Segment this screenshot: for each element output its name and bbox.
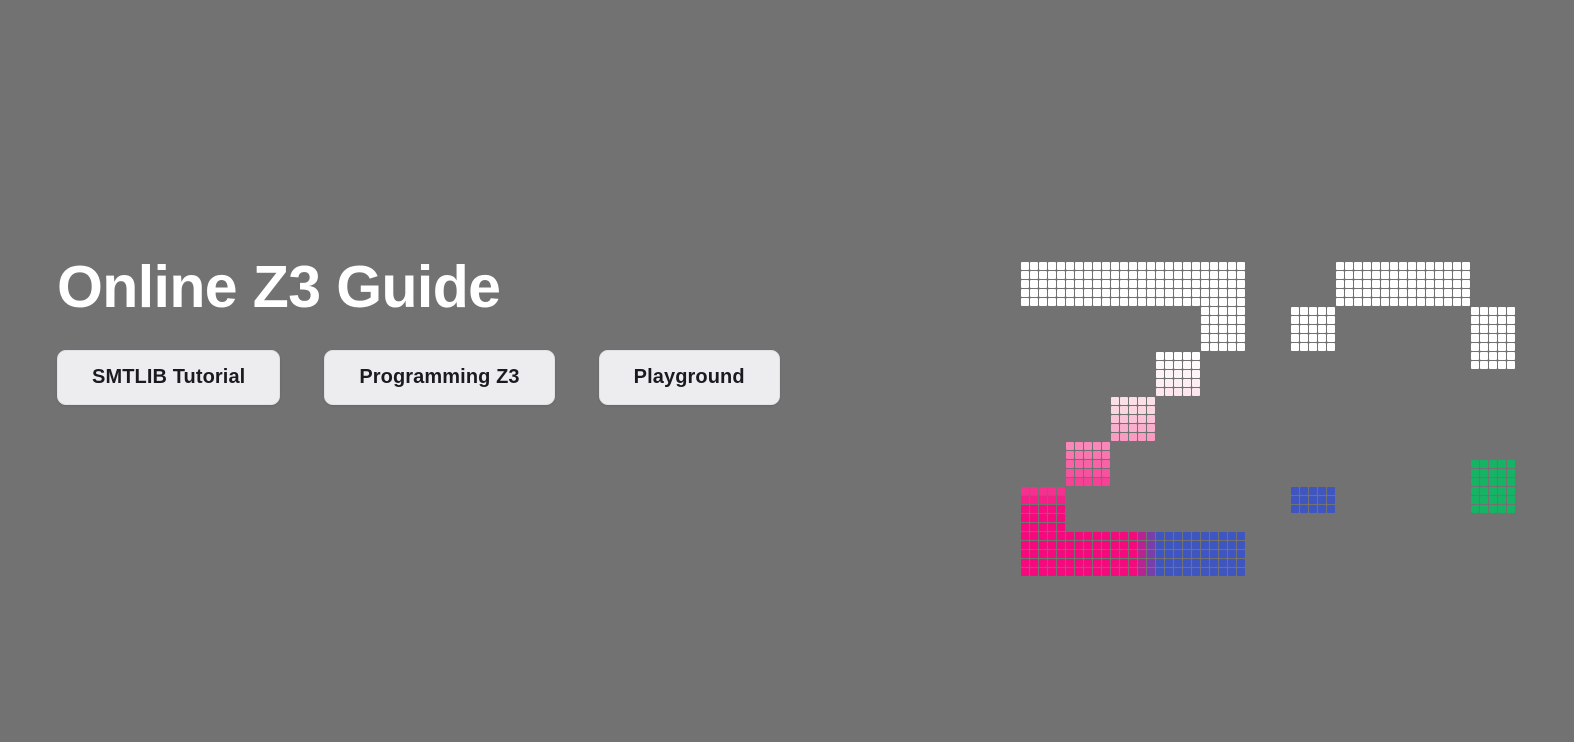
logo-pixel — [1237, 343, 1245, 351]
logo-pixel — [1219, 343, 1227, 351]
logo-pixel — [1354, 415, 1362, 423]
logo-pixel — [1489, 460, 1497, 468]
logo-pixel — [1399, 271, 1407, 279]
logo-pixel — [1453, 415, 1461, 423]
logo-pixel — [1498, 352, 1506, 360]
logo-pixel — [1498, 460, 1506, 468]
logo-pixel — [1201, 289, 1209, 297]
logo-pixel — [1462, 406, 1470, 414]
logo-pixel — [1507, 496, 1515, 504]
logo-pixel — [1192, 280, 1200, 288]
logo-pixel — [1318, 316, 1326, 324]
logo-pixel — [1075, 271, 1083, 279]
logo-pixel — [1030, 523, 1038, 531]
logo-pixel — [1408, 532, 1416, 540]
logo-pixel — [1480, 442, 1488, 450]
logo-pixel — [1129, 271, 1137, 279]
logo-pixel — [1336, 559, 1344, 567]
logo-pixel — [1057, 289, 1065, 297]
logo-pixel — [1129, 289, 1137, 297]
logo-pixel — [1309, 316, 1317, 324]
logo-pixel — [1390, 271, 1398, 279]
logo-pixel — [1111, 406, 1119, 414]
logo-pixel — [1138, 397, 1146, 405]
logo-pixel — [1327, 316, 1335, 324]
logo-pixel — [1435, 289, 1443, 297]
logo-pixel — [1471, 496, 1479, 504]
logo-pixel — [1390, 568, 1398, 576]
logo-pixel — [1129, 262, 1137, 270]
logo-pixel — [1102, 559, 1110, 567]
logo-pixel — [1507, 442, 1515, 450]
logo-pixel — [1165, 352, 1173, 360]
logo-pixel — [1489, 352, 1497, 360]
logo-pixel — [1318, 505, 1326, 513]
logo-pixel — [1138, 532, 1146, 540]
logo-pixel — [1507, 388, 1515, 396]
logo-pixel — [1183, 298, 1191, 306]
logo-pixel — [1174, 568, 1182, 576]
logo-pixel — [1111, 568, 1119, 576]
logo-pixel — [1480, 307, 1488, 315]
logo-pixel — [1300, 505, 1308, 513]
logo-pixel — [1102, 532, 1110, 540]
logo-pixel — [1084, 262, 1092, 270]
logo-pixel — [1039, 514, 1047, 522]
logo-pixel — [1399, 568, 1407, 576]
logo-pixel — [1183, 559, 1191, 567]
logo-pixel — [1192, 379, 1200, 387]
logo-pixel — [1318, 514, 1326, 522]
logo-pixel — [1147, 568, 1155, 576]
logo-pixel — [1390, 289, 1398, 297]
logo-pixel — [1372, 559, 1380, 567]
logo-pixel — [1147, 415, 1155, 423]
logo-pixel — [1507, 334, 1515, 342]
logo-pixel — [1183, 370, 1191, 378]
logo-pixel — [1471, 469, 1479, 477]
logo-pixel — [1165, 541, 1173, 549]
logo-pixel — [1318, 334, 1326, 342]
logo-pixel — [1471, 361, 1479, 369]
logo-pixel — [1228, 289, 1236, 297]
logo-pixel — [1102, 460, 1110, 468]
logo-pixel — [1084, 289, 1092, 297]
logo-pixel — [1120, 532, 1128, 540]
logo-pixel — [1066, 541, 1074, 549]
logo-pixel — [1327, 496, 1335, 504]
logo-pixel — [1156, 280, 1164, 288]
logo-pixel — [1201, 550, 1209, 558]
logo-pixel — [1192, 262, 1200, 270]
logo-pixel — [1219, 307, 1227, 315]
logo-pixel — [1345, 568, 1353, 576]
logo-pixel — [1372, 406, 1380, 414]
logo-pixel — [1381, 289, 1389, 297]
logo-pixel — [1462, 271, 1470, 279]
logo-pixel — [1039, 505, 1047, 513]
logo-pixel — [1183, 568, 1191, 576]
logo-pixel — [1147, 406, 1155, 414]
logo-pixel — [1390, 262, 1398, 270]
logo-pixel — [1471, 316, 1479, 324]
logo-pixel — [1192, 568, 1200, 576]
logo-pixel — [1021, 289, 1029, 297]
logo-pixel — [1399, 415, 1407, 423]
logo-pixel — [1399, 541, 1407, 549]
logo-pixel — [1381, 298, 1389, 306]
logo-pixel — [1102, 280, 1110, 288]
logo-pixel — [1021, 541, 1029, 549]
logo-pixel — [1309, 307, 1317, 315]
logo-pixel — [1498, 496, 1506, 504]
logo-pixel — [1093, 568, 1101, 576]
logo-pixel — [1174, 262, 1182, 270]
logo-pixel — [1381, 424, 1389, 432]
logo-pixel — [1066, 478, 1074, 486]
logo-pixel — [1075, 262, 1083, 270]
logo-pixel — [1120, 280, 1128, 288]
logo-pixel — [1102, 271, 1110, 279]
z3-pixel-logo — [1021, 262, 1521, 592]
logo-pixel — [1039, 271, 1047, 279]
logo-pixel — [1237, 532, 1245, 540]
logo-pixel — [1147, 532, 1155, 540]
logo-pixel — [1345, 271, 1353, 279]
logo-pixel — [1354, 280, 1362, 288]
logo-pixel — [1237, 550, 1245, 558]
logo-pixel — [1408, 541, 1416, 549]
logo-pixel — [1363, 550, 1371, 558]
logo-pixel — [1498, 307, 1506, 315]
logo-pixel — [1489, 388, 1497, 396]
logo-pixel — [1489, 325, 1497, 333]
logo-pixel — [1120, 406, 1128, 414]
logo-pixel — [1030, 271, 1038, 279]
logo-pixel — [1489, 343, 1497, 351]
logo-pixel — [1219, 262, 1227, 270]
logo-pixel — [1219, 334, 1227, 342]
logo-pixel — [1462, 559, 1470, 567]
logo-pixel — [1048, 541, 1056, 549]
logo-pixel — [1453, 559, 1461, 567]
logo-pixel — [1075, 559, 1083, 567]
logo-pixel — [1471, 379, 1479, 387]
logo-pixel — [1318, 523, 1326, 531]
logo-pixel — [1435, 262, 1443, 270]
logo-pixel — [1183, 550, 1191, 558]
logo-pixel — [1336, 289, 1344, 297]
logo-pixel — [1354, 424, 1362, 432]
logo-pixel — [1435, 550, 1443, 558]
logo-pixel — [1210, 559, 1218, 567]
logo-pixel — [1480, 343, 1488, 351]
logo-pixel — [1507, 451, 1515, 459]
logo-pixel — [1354, 289, 1362, 297]
logo-pixel — [1489, 505, 1497, 513]
logo-pixel — [1336, 397, 1344, 405]
logo-pixel — [1507, 325, 1515, 333]
logo-pixel — [1408, 415, 1416, 423]
logo-pixel — [1372, 280, 1380, 288]
logo-pixel — [1156, 532, 1164, 540]
logo-pixel — [1030, 496, 1038, 504]
logo-pixel — [1435, 424, 1443, 432]
logo-pixel — [1498, 334, 1506, 342]
logo-pixel — [1498, 388, 1506, 396]
logo-pixel — [1462, 568, 1470, 576]
logo-pixel — [1408, 406, 1416, 414]
logo-pixel — [1219, 550, 1227, 558]
logo-pixel — [1102, 451, 1110, 459]
logo-pixel — [1507, 478, 1515, 486]
logo-pixel — [1327, 514, 1335, 522]
logo-pixel — [1435, 415, 1443, 423]
logo-pixel — [1075, 280, 1083, 288]
logo-pixel — [1480, 514, 1488, 522]
logo-pixel — [1408, 550, 1416, 558]
logo-pixel — [1183, 352, 1191, 360]
page-title: Online Z3 Guide — [57, 258, 957, 317]
logo-pixel — [1210, 262, 1218, 270]
logo-pixel — [1444, 433, 1452, 441]
logo-pixel — [1201, 316, 1209, 324]
logo-pixel — [1210, 532, 1218, 540]
logo-pixel — [1480, 388, 1488, 396]
logo-pixel — [1327, 505, 1335, 513]
logo-pixel — [1444, 406, 1452, 414]
logo-pixel — [1327, 325, 1335, 333]
logo-pixel — [1336, 280, 1344, 288]
logo-pixel — [1327, 307, 1335, 315]
logo-pixel — [1138, 433, 1146, 441]
logo-pixel — [1462, 424, 1470, 432]
logo-pixel — [1174, 289, 1182, 297]
logo-pixel — [1030, 298, 1038, 306]
logo-pixel — [1111, 298, 1119, 306]
logo-pixel — [1480, 523, 1488, 531]
logo-pixel — [1120, 559, 1128, 567]
logo-pixel — [1165, 568, 1173, 576]
logo-pixel — [1021, 550, 1029, 558]
logo-pixel — [1381, 397, 1389, 405]
logo-pixel — [1480, 460, 1488, 468]
logo-pixel — [1075, 550, 1083, 558]
logo-pixel — [1237, 541, 1245, 549]
logo-pixel — [1129, 397, 1137, 405]
logo-pixel — [1498, 343, 1506, 351]
logo-pixel — [1030, 568, 1038, 576]
logo-pixel — [1291, 487, 1299, 495]
logo-pixel — [1399, 550, 1407, 558]
logo-pixel — [1201, 568, 1209, 576]
logo-pixel — [1300, 487, 1308, 495]
logo-pixel — [1165, 370, 1173, 378]
logo-pixel — [1111, 424, 1119, 432]
logo-pixel — [1183, 532, 1191, 540]
logo-pixel — [1057, 559, 1065, 567]
logo-pixel — [1363, 406, 1371, 414]
logo-pixel — [1138, 424, 1146, 432]
logo-pixel — [1066, 550, 1074, 558]
logo-pixel — [1462, 289, 1470, 297]
logo-pixel — [1147, 397, 1155, 405]
logo-pixel — [1489, 514, 1497, 522]
logo-pixel — [1084, 550, 1092, 558]
logo-pixel — [1093, 262, 1101, 270]
logo-pixel — [1471, 307, 1479, 315]
logo-pixel — [1102, 568, 1110, 576]
logo-pixel — [1174, 298, 1182, 306]
logo-pixel — [1471, 514, 1479, 522]
logo-pixel — [1345, 424, 1353, 432]
logo-pixel — [1489, 469, 1497, 477]
logo-pixel — [1057, 514, 1065, 522]
logo-pixel — [1129, 532, 1137, 540]
logo-pixel — [1174, 559, 1182, 567]
logo-pixel — [1165, 379, 1173, 387]
logo-pixel — [1336, 271, 1344, 279]
logo-pixel — [1480, 379, 1488, 387]
logo-pixel — [1498, 469, 1506, 477]
logo-pixel — [1480, 316, 1488, 324]
smtlib-tutorial-button[interactable]: SMTLIB Tutorial — [57, 350, 280, 405]
logo-pixel — [1462, 415, 1470, 423]
logo-pixel — [1183, 280, 1191, 288]
logo-pixel — [1327, 334, 1335, 342]
logo-pixel — [1165, 550, 1173, 558]
logo-pixel — [1039, 523, 1047, 531]
logo-pixel — [1021, 496, 1029, 504]
logo-pixel — [1021, 280, 1029, 288]
logo-pixel — [1318, 343, 1326, 351]
logo-pixel — [1318, 307, 1326, 315]
logo-pixel — [1480, 361, 1488, 369]
logo-pixel — [1453, 262, 1461, 270]
playground-button[interactable]: Playground — [599, 350, 780, 405]
logo-pixel — [1048, 271, 1056, 279]
logo-pixel — [1111, 541, 1119, 549]
logo-pixel — [1372, 433, 1380, 441]
logo-pixel — [1354, 559, 1362, 567]
logo-pixel — [1417, 532, 1425, 540]
logo-pixel — [1507, 469, 1515, 477]
logo-pixel — [1093, 559, 1101, 567]
logo-pixel — [1021, 505, 1029, 513]
logo-pixel — [1129, 280, 1137, 288]
logo-pixel — [1381, 280, 1389, 288]
logo-pixel — [1219, 559, 1227, 567]
logo-pixel — [1363, 559, 1371, 567]
logo-pixel — [1354, 433, 1362, 441]
logo-pixel — [1291, 523, 1299, 531]
logo-pixel — [1237, 568, 1245, 576]
logo-pixel — [1165, 262, 1173, 270]
logo-pixel — [1453, 550, 1461, 558]
logo-pixel — [1093, 541, 1101, 549]
logo-pixel — [1489, 334, 1497, 342]
logo-pixel — [1309, 505, 1317, 513]
logo-pixel — [1129, 568, 1137, 576]
logo-pixel — [1462, 262, 1470, 270]
logo-pixel — [1228, 550, 1236, 558]
logo-pixel — [1381, 550, 1389, 558]
logo-pixel — [1111, 415, 1119, 423]
logo-pixel — [1138, 406, 1146, 414]
logo-pixel — [1084, 469, 1092, 477]
logo-pixel — [1336, 415, 1344, 423]
logo-pixel — [1183, 361, 1191, 369]
logo-pixel — [1075, 478, 1083, 486]
logo-pixel — [1507, 361, 1515, 369]
logo-pixel — [1138, 559, 1146, 567]
logo-pixel — [1111, 550, 1119, 558]
logo-pixel — [1093, 280, 1101, 288]
logo-pixel — [1489, 442, 1497, 450]
logo-pixel — [1147, 280, 1155, 288]
logo-pixel — [1048, 523, 1056, 531]
logo-pixel — [1480, 478, 1488, 486]
logo-pixel — [1120, 550, 1128, 558]
logo-pixel — [1030, 541, 1038, 549]
logo-pixel — [1138, 298, 1146, 306]
logo-pixel — [1039, 289, 1047, 297]
programming-z3-button[interactable]: Programming Z3 — [324, 350, 554, 405]
logo-pixel — [1147, 298, 1155, 306]
logo-pixel — [1408, 298, 1416, 306]
logo-pixel — [1066, 451, 1074, 459]
logo-pixel — [1201, 280, 1209, 288]
logo-pixel — [1408, 271, 1416, 279]
logo-pixel — [1021, 487, 1029, 495]
logo-pixel — [1192, 298, 1200, 306]
logo-pixel — [1201, 334, 1209, 342]
logo-pixel — [1201, 343, 1209, 351]
logo-pixel — [1201, 307, 1209, 315]
logo-pixel — [1192, 550, 1200, 558]
logo-pixel — [1444, 532, 1452, 540]
logo-pixel — [1156, 379, 1164, 387]
logo-pixel — [1390, 550, 1398, 558]
logo-pixel — [1345, 550, 1353, 558]
logo-pixel — [1120, 289, 1128, 297]
logo-pixel — [1291, 505, 1299, 513]
logo-pixel — [1417, 289, 1425, 297]
logo-pixel — [1057, 568, 1065, 576]
logo-pixel — [1165, 271, 1173, 279]
logo-pixel — [1201, 559, 1209, 567]
logo-pixel — [1084, 442, 1092, 450]
logo-pixel — [1300, 325, 1308, 333]
logo-pixel — [1471, 487, 1479, 495]
logo-pixel — [1345, 262, 1353, 270]
logo-pixel — [1336, 298, 1344, 306]
logo-pixel — [1390, 559, 1398, 567]
logo-pixel — [1075, 451, 1083, 459]
logo-pixel — [1372, 262, 1380, 270]
logo-pixel — [1444, 415, 1452, 423]
logo-pixel — [1381, 532, 1389, 540]
logo-pixel — [1300, 514, 1308, 522]
logo-pixel — [1174, 388, 1182, 396]
logo-pixel — [1084, 559, 1092, 567]
logo-pixel — [1498, 451, 1506, 459]
logo-pixel — [1480, 496, 1488, 504]
logo-pixel — [1093, 451, 1101, 459]
logo-pixel — [1435, 568, 1443, 576]
logo-pixel — [1417, 415, 1425, 423]
logo-pixel — [1201, 271, 1209, 279]
